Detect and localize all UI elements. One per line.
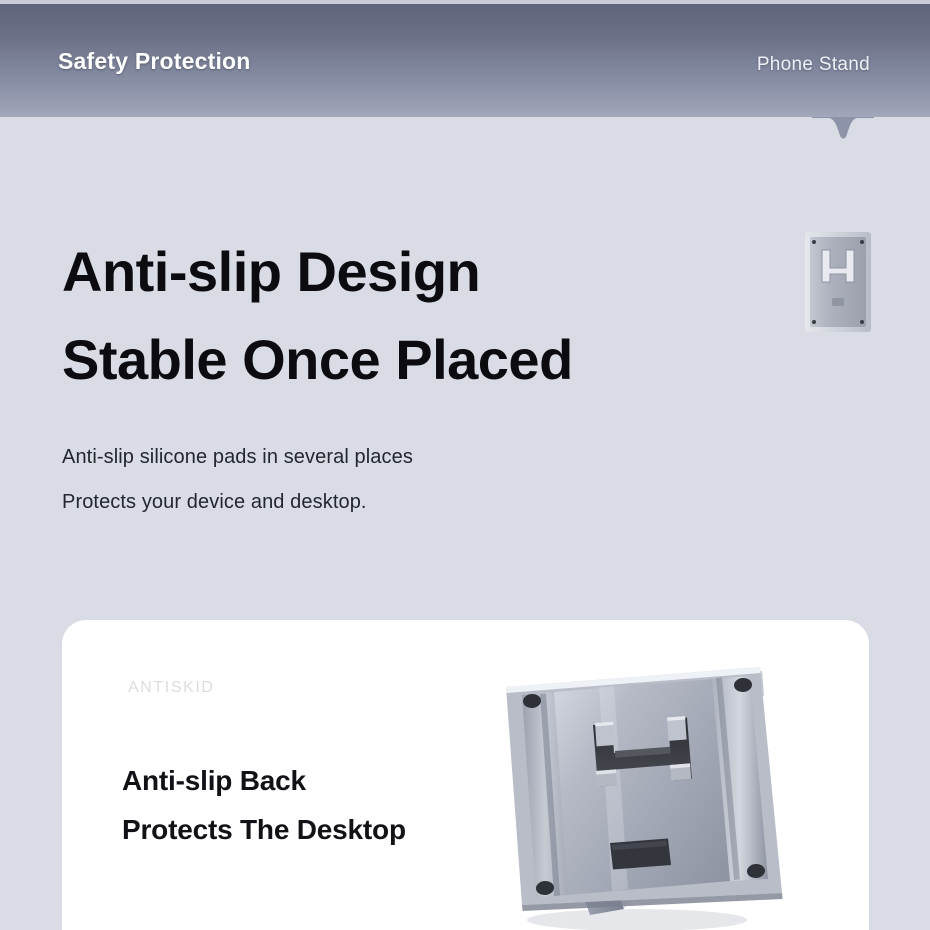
page-title: Safety Protection (58, 48, 251, 75)
hero-subtext-line-2: Protects your device and desktop. (62, 480, 702, 525)
hero-subtext-line-1: Anti-slip silicone pads in several place… (62, 435, 702, 480)
product-category-label: Phone Stand (757, 54, 870, 76)
section-header-band: Safety Protection Phone Stand (0, 4, 930, 117)
header-drip-notch-icon (812, 117, 874, 147)
hero-headline-line-2: Stable Once Placed (62, 316, 762, 404)
feature-card-eyebrow: ANTISKID (128, 679, 215, 697)
feature-card-heading: Anti-slip Back Protects The Desktop (122, 756, 582, 854)
hero-headline-line-1: Anti-slip Design (62, 228, 762, 316)
hero-headline: Anti-slip Design Stable Once Placed (62, 228, 762, 405)
feature-card-heading-line-2: Protects The Desktop (122, 805, 582, 854)
product-detail-page: ————————————— Safety Protection Phone St… (0, 0, 930, 930)
phone-stand-thumbnail (800, 228, 876, 336)
feature-card-heading-line-1: Anti-slip Back (122, 756, 582, 805)
hero-subtext: Anti-slip silicone pads in several place… (62, 435, 702, 525)
clipped-text: ————————————— (150, 0, 352, 3)
